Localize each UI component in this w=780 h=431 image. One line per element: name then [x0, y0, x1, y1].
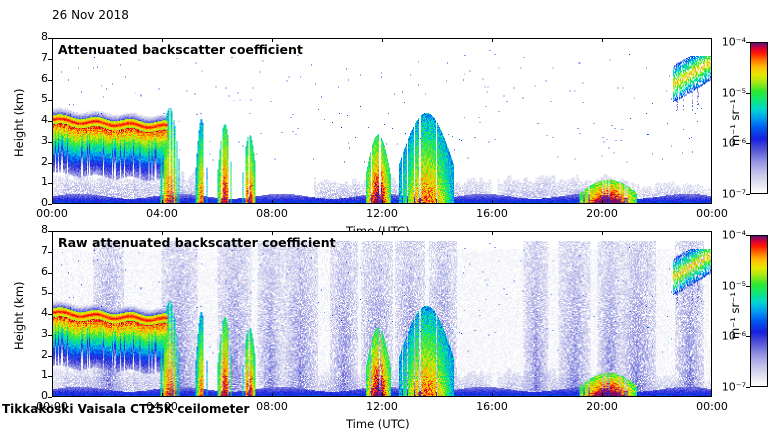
y-tick-mark: [48, 183, 52, 184]
y-tick-mark: [48, 335, 52, 336]
panel-title-screened: Attenuated backscatter coefficient: [58, 42, 303, 57]
x-tick-label: 00:00: [696, 400, 728, 413]
x-tick-label: 20:00: [586, 207, 618, 220]
colorbar-tick-mark: [746, 143, 750, 144]
y-tick-label: 4: [22, 306, 48, 319]
y-tick-label: 2: [22, 155, 48, 168]
colorbar-tick-label: 10⁻⁶: [714, 137, 746, 150]
y-tick-label: 3: [22, 327, 48, 340]
plot-area-screened[interactable]: [52, 38, 712, 204]
colorbar-tick-mark: [746, 336, 750, 337]
y-tick-label: 6: [22, 265, 48, 278]
y-tick-mark: [48, 273, 52, 274]
y-tick-mark: [48, 376, 52, 377]
x-tick-label: 20:00: [586, 400, 618, 413]
x-tick-mark: [602, 200, 603, 204]
y-tick-mark: [48, 100, 52, 101]
colorbar-raw: [750, 235, 768, 387]
colorbar-tick-label: 10⁻⁷: [714, 188, 746, 201]
y-tick-label: 5: [22, 285, 48, 298]
x-tick-label: 08:00: [256, 400, 288, 413]
colorbar-tick-label: 10⁻⁶: [714, 330, 746, 343]
colorbar-tick-label: 10⁻⁴: [714, 229, 746, 242]
plot-area-raw[interactable]: [52, 231, 712, 397]
x-tick-mark: [162, 393, 163, 397]
x-tick-mark: [602, 393, 603, 397]
y-tick-mark: [48, 397, 52, 398]
y-tick-label: 6: [22, 72, 48, 85]
colorbar-tick-mark: [746, 387, 750, 388]
y-tick-mark: [48, 252, 52, 253]
colorbar-tick-label: 10⁻⁴: [714, 36, 746, 49]
x-axis-label-raw: Time (UTC): [346, 417, 410, 431]
y-tick-mark: [48, 231, 52, 232]
y-tick-mark: [48, 59, 52, 60]
instrument-caption: Tikkakoski Vaisala CT25K ceilometer: [2, 402, 249, 416]
y-tick-label: 8: [22, 30, 48, 43]
y-tick-label: 8: [22, 223, 48, 236]
ceilometer-figure: 26 Nov 2018 Attenuated backscatter coeff…: [0, 0, 780, 420]
y-tick-label: 7: [22, 51, 48, 64]
x-tick-label: 16:00: [476, 400, 508, 413]
colorbar-tick-label: 10⁻⁷: [714, 381, 746, 394]
x-tick-label: 08:00: [256, 207, 288, 220]
x-tick-label: 00:00: [696, 207, 728, 220]
colorbar-tick-mark: [746, 235, 750, 236]
x-tick-label: 12:00: [366, 207, 398, 220]
y-tick-mark: [48, 142, 52, 143]
x-tick-mark: [272, 200, 273, 204]
colorbar-tick-mark: [746, 42, 750, 43]
x-tick-label: 04:00: [146, 207, 178, 220]
y-tick-mark: [48, 314, 52, 315]
x-tick-mark: [492, 231, 493, 235]
x-tick-label: 00:00: [36, 207, 68, 220]
x-tick-mark: [492, 200, 493, 204]
colorbar-tick-label: 10⁻⁵: [714, 86, 746, 99]
y-tick-mark: [48, 80, 52, 81]
x-tick-mark: [492, 393, 493, 397]
y-tick-mark: [48, 121, 52, 122]
y-tick-mark: [48, 356, 52, 357]
x-tick-mark: [602, 38, 603, 42]
y-tick-mark: [48, 293, 52, 294]
x-tick-label: 12:00: [366, 400, 398, 413]
x-tick-mark: [382, 200, 383, 204]
x-tick-mark: [492, 38, 493, 42]
x-tick-mark: [272, 393, 273, 397]
y-tick-label: 1: [22, 175, 48, 188]
colorbar-tick-mark: [746, 93, 750, 94]
y-tick-label: 2: [22, 348, 48, 361]
x-tick-mark: [162, 200, 163, 204]
x-tick-mark: [382, 38, 383, 42]
y-tick-label: 1: [22, 368, 48, 381]
colorbar-tick-label: 10⁻⁵: [714, 279, 746, 292]
x-tick-mark: [602, 231, 603, 235]
y-tick-label: 3: [22, 134, 48, 147]
x-tick-label: 16:00: [476, 207, 508, 220]
x-tick-mark: [382, 393, 383, 397]
y-tick-label: 5: [22, 92, 48, 105]
y-tick-mark: [48, 38, 52, 39]
panel-title-raw: Raw attenuated backscatter coefficient: [58, 235, 336, 250]
colorbar-screened: [750, 42, 768, 194]
y-tick-mark: [48, 163, 52, 164]
colorbar-tick-mark: [746, 286, 750, 287]
y-tick-label: 4: [22, 113, 48, 126]
y-tick-mark: [48, 204, 52, 205]
colorbar-tick-mark: [746, 194, 750, 195]
date-label: 26 Nov 2018: [52, 8, 129, 22]
x-tick-mark: [382, 231, 383, 235]
y-tick-label: 7: [22, 244, 48, 257]
